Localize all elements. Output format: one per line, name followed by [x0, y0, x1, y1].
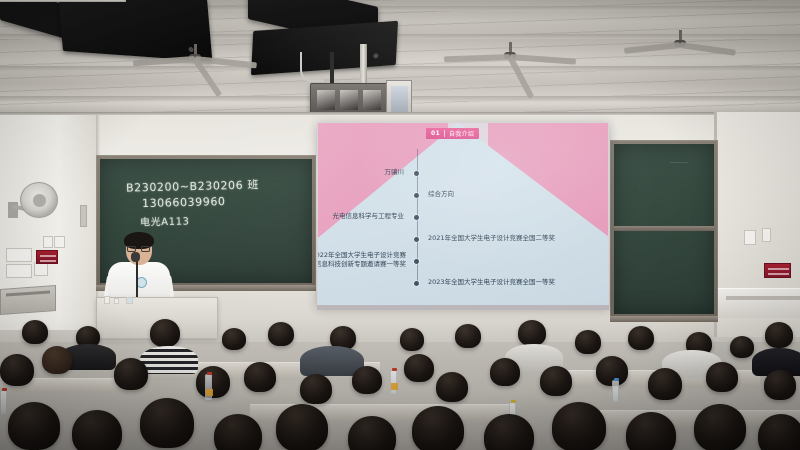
- audience-head: [626, 412, 676, 450]
- audience-head: [490, 358, 520, 386]
- audience-head: [276, 404, 328, 450]
- timeline-item-label: 2021年全国大学生电子设计竞赛全国二等奖: [428, 234, 555, 243]
- audience-head: [352, 366, 382, 394]
- light-switch-panel[interactable]: [762, 228, 771, 242]
- audience-head: [648, 368, 682, 400]
- light-switch-panel[interactable]: [744, 230, 756, 245]
- audience-head: [436, 372, 468, 402]
- power-outlet[interactable]: [43, 236, 53, 248]
- audience-head: [765, 322, 793, 348]
- water-bottle: [390, 370, 397, 394]
- right-blackboard: [610, 140, 718, 318]
- audience-head: [72, 410, 122, 450]
- red-warning-sign: [764, 263, 791, 278]
- chalk-text-class-codes: B230200~B230206 班: [126, 176, 259, 195]
- projection-screen: 01 自我介绍 万骧川 综合方向 光电信息科学与工程专业 2021年全国大学生电…: [317, 122, 609, 307]
- ceiling-fan-3: [620, 30, 740, 56]
- timeline-item-label: 光电信息科学与工程专业: [333, 212, 405, 221]
- timeline-item: 综合方向: [318, 189, 608, 201]
- badge-separator: [444, 130, 445, 137]
- projector-mount-pole: [360, 44, 367, 86]
- audience-head: [214, 414, 262, 450]
- audience-head: [268, 322, 294, 346]
- presenter: [104, 235, 174, 305]
- audience-head: [404, 354, 434, 382]
- microphone-head: [131, 252, 140, 262]
- audience-head: [300, 374, 332, 404]
- projector-mount-bracket: [330, 52, 334, 86]
- timeline-item-label: 2022年全国大学生电子设计竞赛 信息科技创新专题邀请赛一等奖: [318, 251, 406, 270]
- red-warning-sign: [36, 250, 58, 264]
- audience-head: [140, 398, 194, 448]
- podium-top: [0, 0, 126, 2]
- ceiling-beam: [0, 66, 800, 71]
- light-switch-panel[interactable]: [6, 264, 32, 278]
- audience-head: [694, 404, 746, 450]
- audience-head: [706, 362, 738, 392]
- audience-head: [222, 328, 246, 350]
- presentation-slide: 01 自我介绍 万骧川 综合方向 光电信息科学与工程专业 2021年全国大学生电…: [318, 123, 608, 306]
- slide-section-title: 自我介绍: [449, 129, 474, 138]
- timeline-item-label: 万骧川: [385, 168, 405, 177]
- audience-head: [0, 354, 34, 386]
- audience-head: [518, 320, 546, 346]
- lecture-hall-photo: B230200~B230206 班 13066039960 电光A113 01 …: [0, 0, 800, 450]
- glasses-icon: [127, 246, 151, 252]
- water-bottle: [205, 374, 212, 400]
- audience-head: [575, 330, 601, 354]
- wall-fan-left: [12, 182, 58, 222]
- light-switch-panel[interactable]: [34, 262, 48, 276]
- timeline-item: 2022年全国大学生电子设计竞赛 信息科技创新专题邀请赛一等奖: [318, 255, 608, 267]
- blackboard-divider: [614, 226, 714, 231]
- timeline-item-label: 综合方向: [428, 190, 454, 199]
- audience-head: [42, 346, 72, 374]
- audience-head: [8, 402, 60, 450]
- timeline-dot-icon: [414, 171, 419, 176]
- timeline-item: 万骧川: [318, 167, 608, 179]
- timeline-dot-icon: [414, 215, 419, 220]
- audience-head: [484, 414, 534, 450]
- audience-head: [758, 414, 800, 450]
- ceiling-fan-2: [440, 42, 580, 72]
- audience-shoulders: [140, 346, 198, 374]
- audience-head: [540, 366, 572, 396]
- audience-head: [412, 406, 464, 450]
- audience-head: [455, 324, 481, 348]
- timeline-dot-icon: [414, 281, 419, 286]
- audience-head: [244, 362, 276, 392]
- water-bottle: [0, 390, 7, 414]
- audience-head: [150, 319, 180, 347]
- ceiling-fan-1: [130, 44, 260, 72]
- chalk-text-room: 电光A113: [140, 212, 190, 228]
- projector-cable: [300, 52, 324, 82]
- timeline-item-label: 2023年全国大学生电子设计竞赛全国一等奖: [428, 278, 555, 287]
- wall-ceiling-seam: [0, 112, 800, 115]
- timeline-dot-icon: [414, 237, 419, 242]
- water-bottle: [612, 380, 619, 402]
- audience-head: [400, 328, 424, 351]
- timeline-item: 2021年全国大学生电子设计竞赛全国二等奖: [318, 233, 608, 245]
- audience-head: [22, 320, 48, 344]
- podium-objects: [104, 296, 152, 304]
- audience-head: [764, 370, 796, 400]
- screen-bottom-bar: [317, 305, 609, 310]
- timeline-item: 2023年全国大学生电子设计竞赛全国一等奖: [318, 277, 608, 289]
- audience-head: [114, 358, 148, 390]
- audience-head: [552, 402, 606, 450]
- light-switch-panel[interactable]: [6, 248, 32, 262]
- seated-audience: [0, 318, 800, 450]
- timeline-item: 光电信息科学与工程专业: [318, 211, 608, 223]
- slide-section-badge: 01 自我介绍: [426, 128, 479, 139]
- side-desk: [716, 288, 800, 318]
- timeline-dot-icon: [414, 259, 419, 264]
- chalk-text-phone: 13066039960: [142, 195, 226, 210]
- side-desk-edge: [726, 296, 800, 300]
- slide-section-number: 01: [431, 130, 440, 137]
- power-outlet[interactable]: [54, 236, 65, 248]
- presenter-laptop: [0, 285, 56, 315]
- timeline-dot-icon: [414, 193, 419, 198]
- wall-vent-slot: [80, 205, 87, 227]
- audience-head: [196, 366, 230, 398]
- audience-head: [730, 336, 754, 358]
- audience-head: [628, 326, 654, 350]
